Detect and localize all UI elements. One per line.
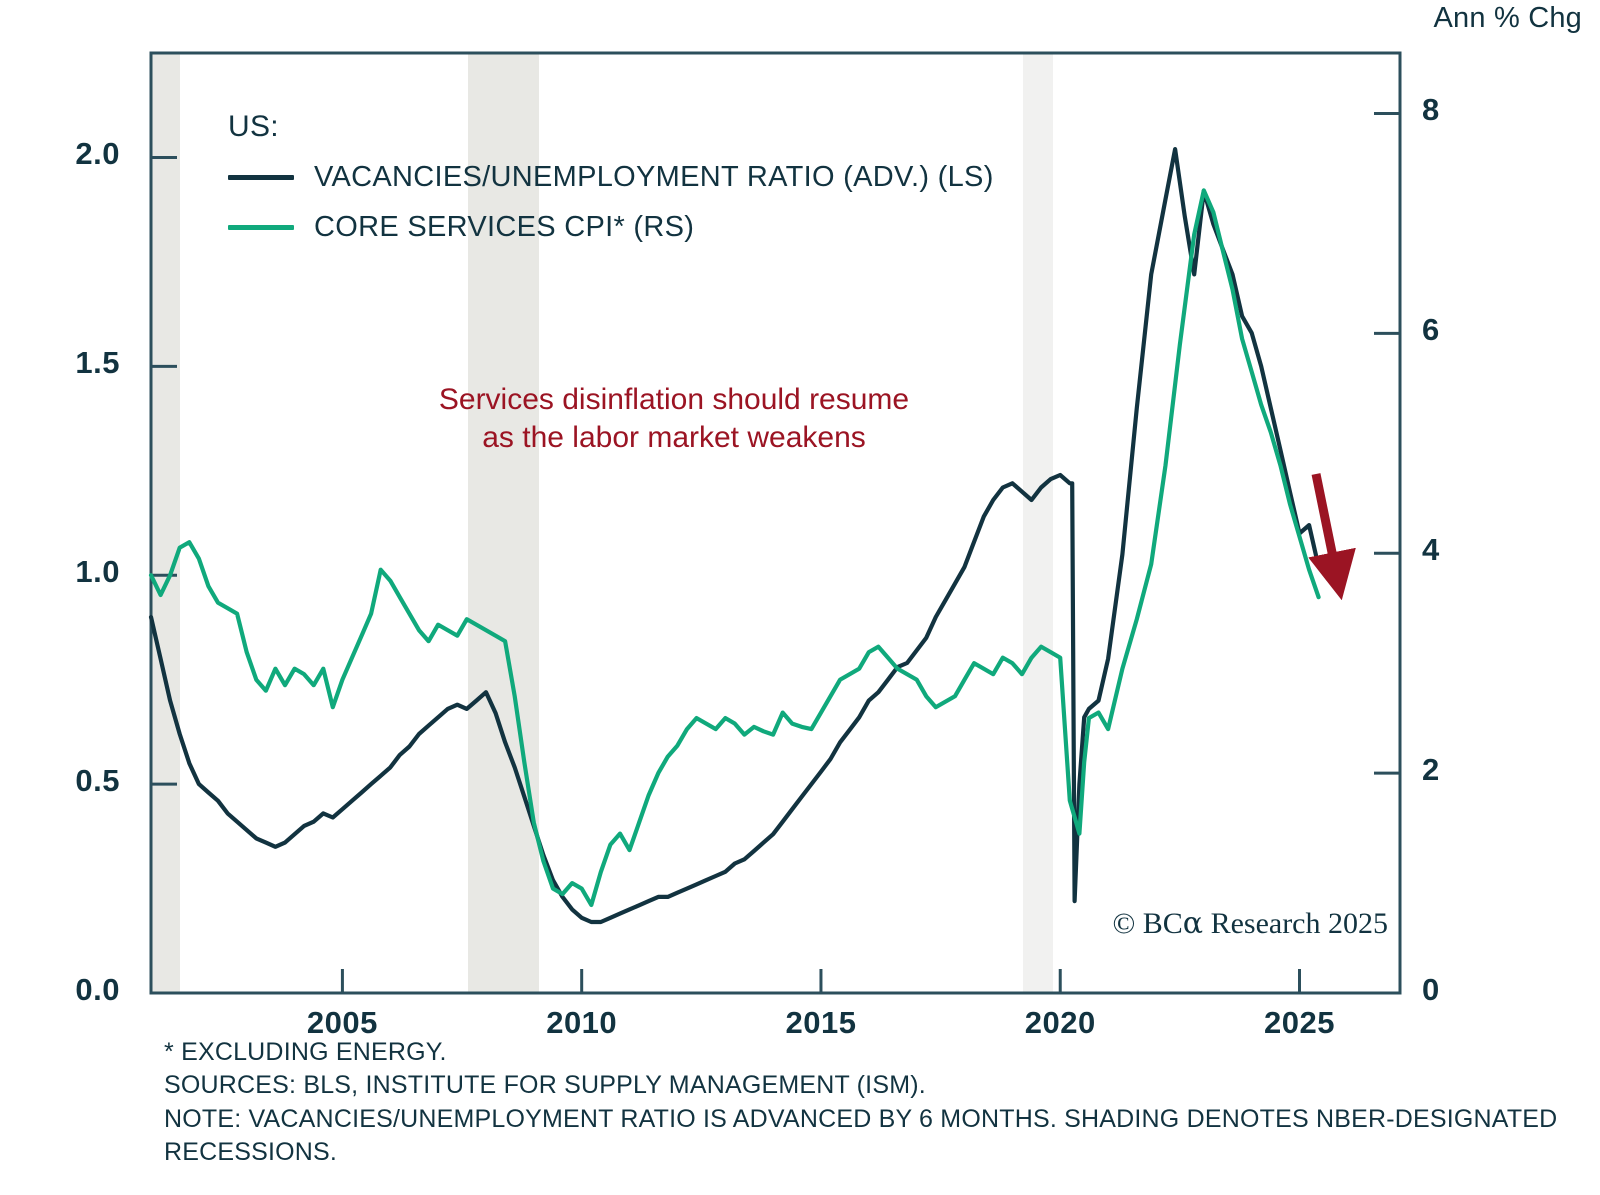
recession-band [1023, 53, 1053, 993]
chart-canvas: US: VACANCIES/UNEMPLOYMENT RATIO (ADV.) … [0, 0, 1600, 1010]
line-swatch-icon [228, 175, 294, 180]
chart-page: Ann % Chg US: VACANCIES/UNEMPL [0, 0, 1600, 1195]
legend-item-label: VACANCIES/UNEMPLOYMENT RATIO (ADV.) (LS) [314, 161, 994, 194]
axis-ticks-group [151, 113, 1400, 993]
brand-research: Research [1203, 907, 1328, 940]
copyright-year: 2025 [1328, 907, 1388, 940]
series-lines-group [151, 149, 1328, 922]
chart-legend: US: VACANCIES/UNEMPLOYMENT RATIO (ADV.) … [228, 110, 994, 244]
copyright-symbol: © [1112, 907, 1135, 940]
y-axis-right-tick-label: 6 [1422, 312, 1482, 348]
y-axis-left-tick-label: 0.5 [30, 763, 120, 799]
footnote-note: NOTE: VACANCIES/UNEMPLOYMENT RATIO IS AD… [164, 1103, 1584, 1170]
annotation-line-1: Services disinflation should resume [414, 381, 934, 419]
footnotes: * EXCLUDING ENERGY. SOURCES: BLS, INSTIT… [164, 1036, 1584, 1169]
chart-annotation: Services disinflation should resume as t… [414, 381, 934, 458]
footnote-excluding-energy: * EXCLUDING ENERGY. [164, 1036, 1584, 1069]
recession-band [151, 53, 180, 993]
y-axis-right-tick-label: 0 [1422, 972, 1482, 1008]
y-axis-left-tick-label: 0.0 [30, 972, 120, 1008]
legend-item-label: CORE SERVICES CPI* (RS) [314, 211, 694, 244]
annotation-line-2: as the labor market weakens [414, 419, 934, 457]
y-axis-right-tick-label: 4 [1422, 532, 1482, 568]
y-axis-left-tick-label: 1.5 [30, 345, 120, 381]
y-axis-right-tick-label: 8 [1422, 92, 1482, 128]
y-axis-left-tick-label: 1.0 [30, 554, 120, 590]
line-swatch-icon [228, 225, 294, 230]
y-axis-right-tick-label: 2 [1422, 752, 1482, 788]
brand-bc: BC [1143, 907, 1183, 940]
legend-item-vacancies: VACANCIES/UNEMPLOYMENT RATIO (ADV.) (LS) [228, 161, 994, 194]
series-line [151, 190, 1319, 905]
brand-alpha: α [1183, 906, 1203, 941]
legend-item-core-services-cpi: CORE SERVICES CPI* (RS) [228, 211, 994, 244]
trend-down-arrow [1316, 474, 1336, 572]
y-axis-left-tick-label: 2.0 [30, 136, 120, 172]
series-line [151, 149, 1328, 922]
legend-title: US: [228, 110, 994, 144]
copyright-notice: © BCα Research 2025 [1112, 906, 1388, 941]
footnote-sources: SOURCES: BLS, INSTITUTE FOR SUPPLY MANAG… [164, 1069, 1584, 1102]
